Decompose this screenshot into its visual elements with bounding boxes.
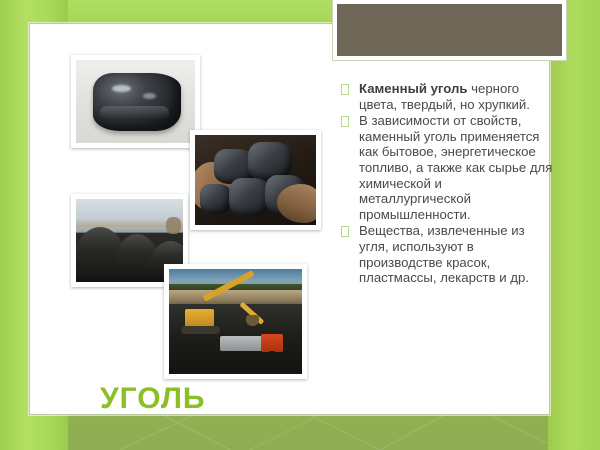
bullet-lead-text: Каменный уголь (359, 81, 467, 96)
body-text-column: Каменный уголь черного цвета, твердый, н… (337, 81, 555, 287)
list-item: Каменный уголь черного цвета, твердый, н… (337, 81, 555, 112)
photo-coal-lump-closeup (71, 55, 200, 148)
top-image-placeholder (333, 0, 566, 60)
bullet-body-text: В зависимости от свойств, каменный уголь… (359, 113, 552, 222)
bullet-body-text: Вещества, извлеченные из угля, использую… (359, 223, 529, 285)
bullet-marker-icon (341, 116, 349, 127)
bullet-list: Каменный уголь черного цвета, твердый, н… (337, 81, 555, 286)
slide-title: УГОЛЬ (100, 382, 205, 416)
bullet-marker-icon (341, 84, 349, 95)
photo-excavator-loading-coal-truck (164, 264, 307, 379)
right-green-band (548, 0, 600, 450)
bullet-marker-icon (341, 226, 349, 237)
slide-canvas: УГОЛЬ Каменный уголь черного цвета, твер… (29, 23, 550, 415)
presentation-slide: УГОЛЬ Каменный уголь черного цвета, твер… (0, 0, 600, 450)
list-item: Вещества, извлеченные из угля, использую… (337, 223, 555, 285)
photo-hands-holding-coal (190, 130, 321, 230)
list-item: В зависимости от свойств, каменный уголь… (337, 113, 555, 222)
